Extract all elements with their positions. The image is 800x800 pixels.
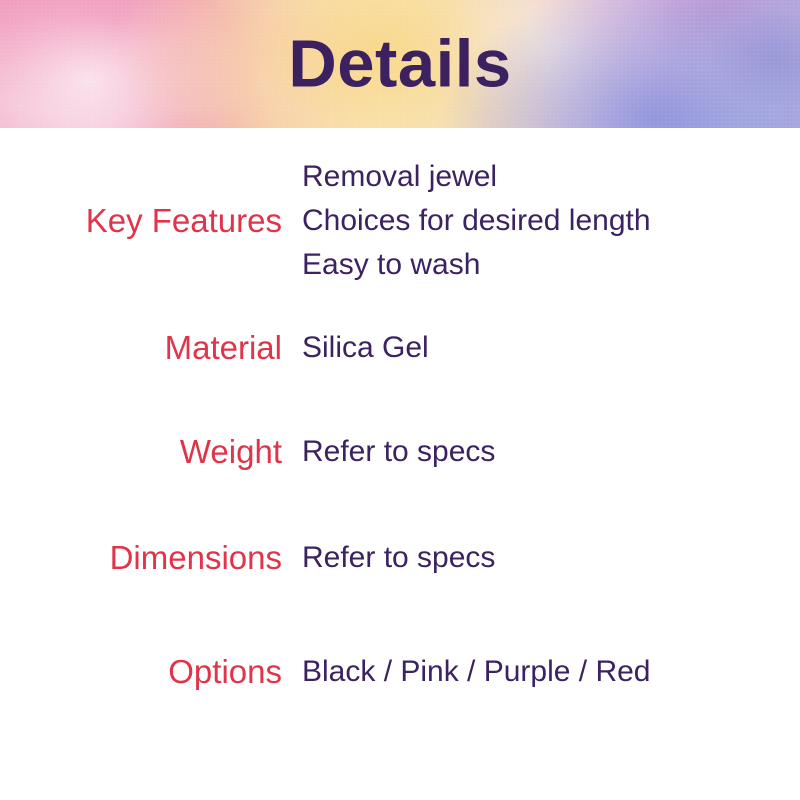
spec-table: Key Features Removal jewel Choices for d… [0,128,800,732]
spec-value-weight: Refer to specs [282,430,800,474]
spec-label-dimensions: Dimensions [0,539,282,578]
spec-value-material: Silica Gel [282,326,800,370]
spec-value-key-features: Removal jewel Choices for desired length… [282,155,800,287]
spec-row-weight: Weight Refer to specs [0,400,800,504]
spec-value-line: Removal jewel [302,155,800,199]
spec-value-options: Black / Pink / Purple / Red [282,650,800,694]
spec-row-options: Options Black / Pink / Purple / Red [0,612,800,732]
spec-row-key-features: Key Features Removal jewel Choices for d… [0,146,800,296]
details-page: Details Key Features Removal jewel Choic… [0,0,800,800]
spec-value-dimensions: Refer to specs [282,536,800,580]
spec-label-weight: Weight [0,433,282,472]
header-banner: Details [0,0,800,128]
spec-label-key-features: Key Features [0,202,282,241]
spec-row-material: Material Silica Gel [0,296,800,400]
spec-label-options: Options [0,653,282,692]
spec-value-line: Choices for desired length [302,199,800,243]
page-title: Details [0,31,800,98]
spec-label-material: Material [0,329,282,368]
spec-value-line: Silica Gel [302,326,800,370]
spec-value-line: Refer to specs [302,430,800,474]
spec-value-line: Refer to specs [302,536,800,580]
spec-value-line: Easy to wash [302,243,800,287]
spec-value-line: Black / Pink / Purple / Red [302,650,800,694]
spec-row-dimensions: Dimensions Refer to specs [0,504,800,612]
